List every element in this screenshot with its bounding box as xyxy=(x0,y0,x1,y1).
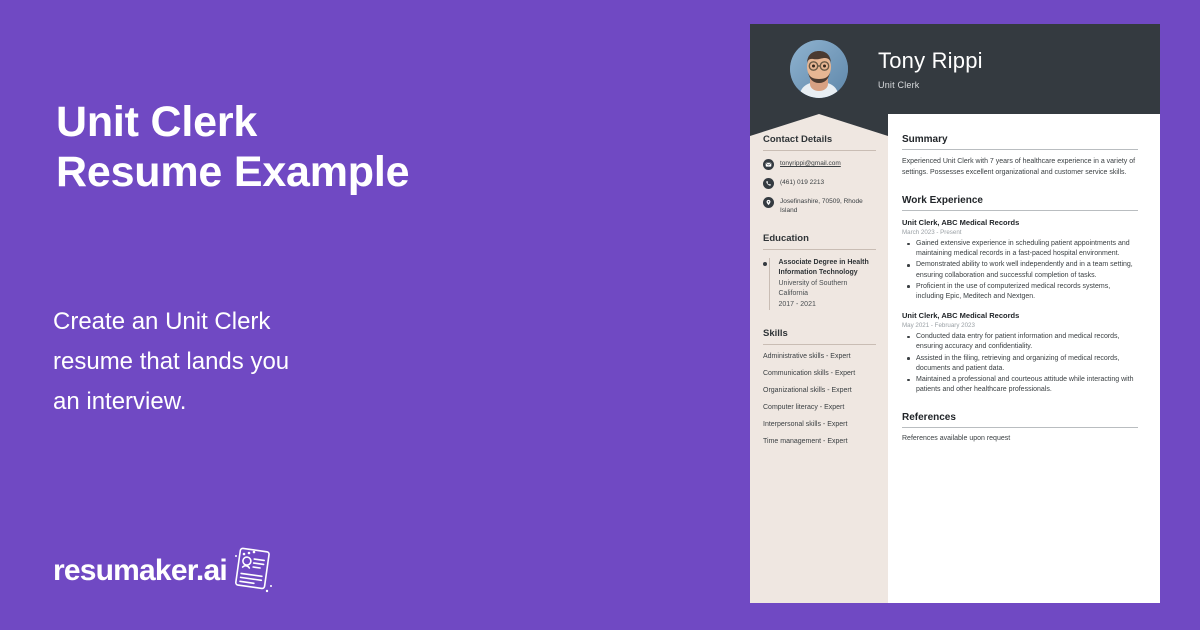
skill-item: Computer literacy - Expert xyxy=(763,404,876,411)
summary-text: Experienced Unit Clerk with 7 years of h… xyxy=(902,157,1138,178)
summary-heading: Summary xyxy=(902,134,1138,150)
contact-item-location[interactable]: Josefinashire, 70509, Rhode Island xyxy=(763,197,876,215)
education-years: 2017 - 2021 xyxy=(779,300,877,310)
envelope-icon xyxy=(763,159,774,170)
contact-location-value: Josefinashire, 70509, Rhode Island xyxy=(780,197,876,215)
contact-phone-value: (461) 019 2213 xyxy=(780,178,824,187)
skill-item: Interpersonal skills - Expert xyxy=(763,421,876,428)
contact-item-phone[interactable]: (461) 019 2213 xyxy=(763,178,876,189)
resume-header: Tony Rippi Unit Clerk xyxy=(750,24,1160,114)
job-bullet: Conducted data entry for patient informa… xyxy=(902,332,1138,352)
job-dates: March 2023 - Present xyxy=(902,229,1138,236)
job-entry: Unit Clerk, ABC Medical Records May 2021… xyxy=(902,311,1138,395)
job-title: Unit Clerk, ABC Medical Records xyxy=(902,311,1138,320)
work-experience-heading: Work Experience xyxy=(902,195,1138,211)
resume-name: Tony Rippi xyxy=(878,48,983,74)
job-bullet: Maintained a professional and courteous … xyxy=(902,375,1138,395)
resumaker-logo[interactable]: resumaker.ai xyxy=(53,548,276,594)
skill-item: Administrative skills - Expert xyxy=(763,353,876,360)
header-chevron-shape xyxy=(750,114,888,136)
job-bullet: Assisted in the filing, retrieving and o… xyxy=(902,354,1138,374)
bullet-icon xyxy=(763,262,767,266)
promo-subtitle: Create an Unit Clerk resume that lands y… xyxy=(53,302,289,422)
references-heading: References xyxy=(902,412,1138,428)
education-degree: Associate Degree in Health Information T… xyxy=(779,258,877,277)
contact-details-heading: Contact Details xyxy=(763,134,876,151)
resume-document-icon xyxy=(230,548,276,594)
resume-sidebar: Contact Details tonyrippi@gmail.com (461… xyxy=(750,114,888,603)
avatar xyxy=(790,40,848,98)
job-bullet-list: Conducted data entry for patient informa… xyxy=(902,332,1138,395)
skill-item: Communication skills - Expert xyxy=(763,370,876,377)
contact-item-email[interactable]: tonyrippi@gmail.com xyxy=(763,159,876,170)
education-item: Associate Degree in Health Information T… xyxy=(763,258,876,310)
job-bullet: Demonstrated ability to work well indepe… xyxy=(902,260,1138,280)
resume-main-column: Summary Experienced Unit Clerk with 7 ye… xyxy=(888,114,1160,603)
page-title: Unit Clerk Resume Example xyxy=(56,97,409,197)
resume-role: Unit Clerk xyxy=(878,80,983,90)
resume-preview-card[interactable]: Tony Rippi Unit Clerk Contact Details to… xyxy=(750,24,1160,603)
skill-item: Organizational skills - Expert xyxy=(763,387,876,394)
references-text: References available upon request xyxy=(902,435,1138,442)
job-bullet: Proficient in the use of computerized me… xyxy=(902,282,1138,302)
job-entry: Unit Clerk, ABC Medical Records March 20… xyxy=(902,218,1138,302)
skills-heading: Skills xyxy=(763,328,876,345)
education-heading: Education xyxy=(763,233,876,250)
job-dates: May 2021 - February 2023 xyxy=(902,322,1138,329)
promo-panel: Unit Clerk Resume Example Create an Unit… xyxy=(0,0,750,630)
location-pin-icon xyxy=(763,197,774,208)
contact-email-value: tonyrippi@gmail.com xyxy=(780,159,841,168)
education-school: University of Southern California xyxy=(779,279,877,298)
job-bullet: Gained extensive experience in schedulin… xyxy=(902,239,1138,259)
logo-wordmark: resumaker.ai xyxy=(53,554,227,588)
phone-icon xyxy=(763,178,774,189)
skill-item: Time management - Expert xyxy=(763,438,876,445)
job-bullet-list: Gained extensive experience in schedulin… xyxy=(902,239,1138,302)
job-title: Unit Clerk, ABC Medical Records xyxy=(902,218,1138,227)
